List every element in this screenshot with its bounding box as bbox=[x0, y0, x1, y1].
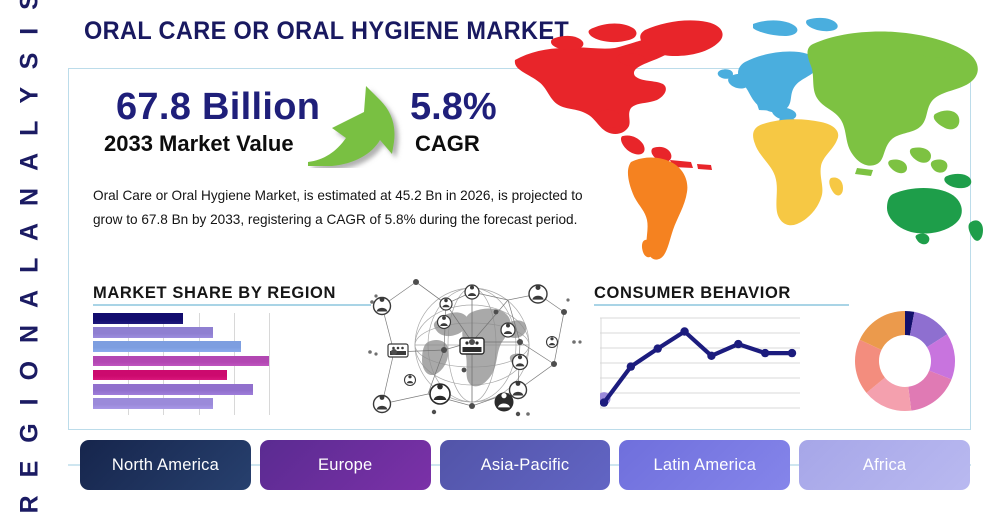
side-label-text: R E G I O N A L A N A L Y S I S bbox=[16, 0, 45, 513]
network-node bbox=[438, 316, 451, 329]
bar-chart-bar bbox=[93, 370, 227, 381]
line-chart-point bbox=[788, 349, 796, 357]
segment-donut-chart bbox=[852, 308, 958, 414]
growth-arrow-icon bbox=[306, 82, 410, 168]
map-region-oceania bbox=[887, 174, 983, 244]
network-node bbox=[495, 393, 514, 412]
consumer-behavior-heading: CONSUMER BEHAVIOR bbox=[594, 284, 791, 303]
bar-chart-bar bbox=[93, 327, 213, 338]
map-region-africa bbox=[753, 119, 843, 225]
region-button-north-america[interactable]: North America bbox=[80, 440, 251, 490]
regional-analysis-side-label: R E G I O N A L A N A L Y S I S bbox=[0, 0, 62, 500]
network-node bbox=[430, 384, 450, 404]
bar-chart-bar bbox=[93, 356, 269, 367]
market-share-bar-chart bbox=[93, 313, 269, 413]
bar-chart-bar bbox=[93, 398, 213, 409]
cagr-value: 5.8% bbox=[410, 86, 497, 129]
line-chart-point bbox=[680, 327, 688, 335]
hero-sublabel: 2033 Market Value bbox=[104, 131, 294, 157]
bar-chart-bar bbox=[93, 384, 253, 395]
network-node bbox=[465, 285, 479, 299]
region-button-label: Europe bbox=[318, 456, 372, 475]
market-share-heading-rule bbox=[93, 304, 371, 306]
line-chart-point bbox=[600, 398, 608, 406]
market-share-heading: MARKET SHARE BY REGION bbox=[93, 284, 336, 303]
map-region-south-america bbox=[628, 158, 687, 260]
network-node bbox=[405, 375, 416, 386]
network-node-building bbox=[388, 344, 408, 357]
region-button-latin-america[interactable]: Latin America bbox=[619, 440, 790, 490]
line-chart-point bbox=[734, 340, 742, 348]
network-node bbox=[510, 381, 527, 398]
region-button-label: Latin America bbox=[654, 456, 757, 475]
network-node bbox=[547, 337, 558, 348]
line-chart-point bbox=[707, 352, 715, 360]
infographic-root: R E G I O N A L A N A L Y S I S ORAL CAR… bbox=[0, 0, 1000, 500]
line-chart-point bbox=[627, 362, 635, 370]
network-node bbox=[440, 298, 452, 310]
line-chart-point bbox=[761, 349, 769, 357]
consumer-behavior-heading-rule bbox=[594, 304, 849, 306]
bar-chart-bar bbox=[93, 341, 241, 352]
hero-value: 67.8 Billion bbox=[116, 86, 320, 129]
network-node bbox=[501, 323, 515, 337]
region-button-asia-pacific[interactable]: Asia-Pacific bbox=[440, 440, 611, 490]
cagr-sublabel: CAGR bbox=[415, 131, 480, 157]
map-region-asia bbox=[808, 32, 978, 177]
region-button-group: North AmericaEuropeAsia-PacificLatin Ame… bbox=[80, 440, 970, 490]
global-network-globe-icon bbox=[368, 266, 584, 424]
network-node bbox=[374, 297, 391, 314]
network-node bbox=[513, 355, 528, 370]
network-node bbox=[374, 395, 391, 412]
region-button-europe[interactable]: Europe bbox=[260, 440, 431, 490]
region-button-label: Africa bbox=[863, 456, 906, 475]
region-button-label: Asia-Pacific bbox=[481, 456, 570, 475]
region-button-label: North America bbox=[112, 456, 219, 475]
region-button-africa[interactable]: Africa bbox=[799, 440, 970, 490]
map-region-north-america bbox=[515, 20, 723, 170]
bar-chart-bar bbox=[93, 313, 183, 324]
world-map-icon bbox=[495, 8, 995, 268]
consumer-behavior-line-chart bbox=[600, 312, 800, 416]
line-chart-point bbox=[654, 344, 662, 352]
network-node bbox=[529, 285, 547, 303]
